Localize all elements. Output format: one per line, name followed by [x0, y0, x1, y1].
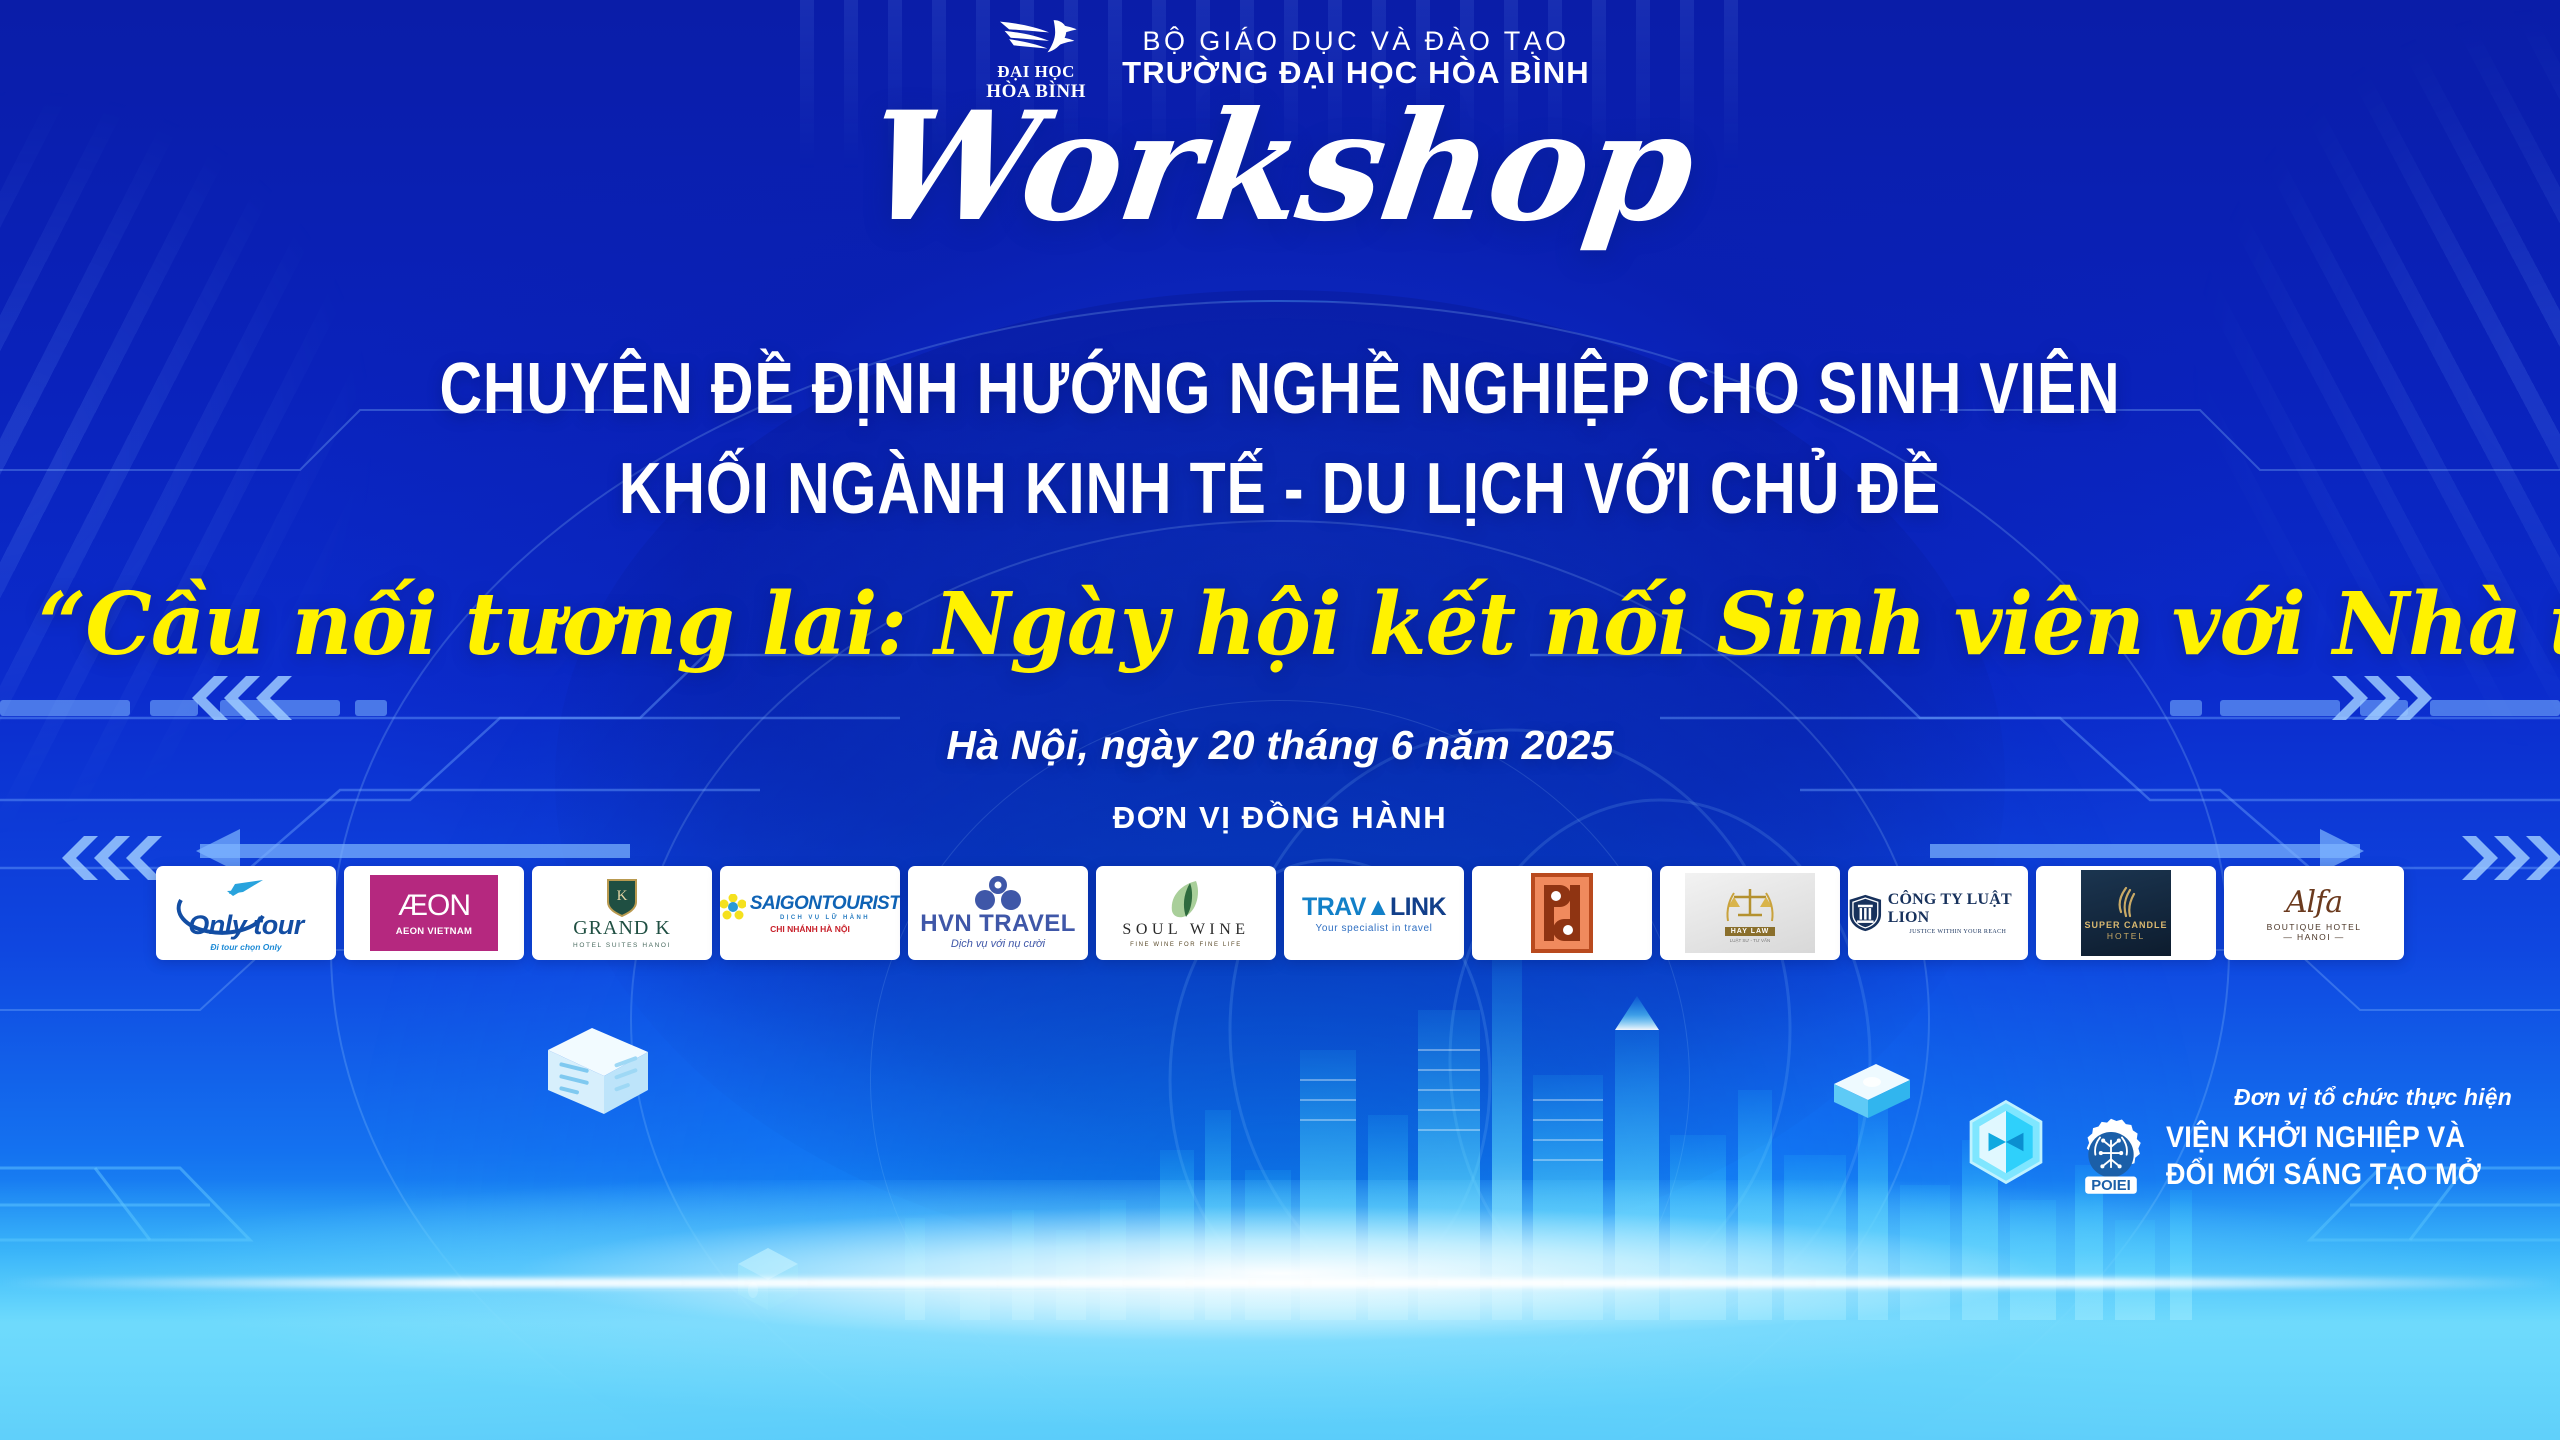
partner-logo-only-tour[interactable]: Only tour Đi tour chọn Only	[156, 866, 336, 960]
partner-tagline-haylaw: LUẬT SƯ - TƯ VẤN	[1730, 938, 1771, 943]
grand-k-shield-icon: K	[605, 877, 639, 917]
svg-text:K: K	[617, 888, 628, 904]
organizer-name-line-2: ĐỔI MỚI SÁNG TẠO MỞ	[2166, 1157, 2481, 1194]
hvn-travel-pin-icon	[975, 876, 1021, 910]
main-title-line-2: KHỐI NGÀNH KINH TẾ - DU LỊCH VỚI CHỦ ĐỀ	[230, 448, 2329, 530]
partner-tagline-super-candle: HOTEL	[2107, 931, 2145, 941]
slab-3d-icon	[1820, 1052, 1920, 1142]
organizer-name-line-1: VIỆN KHỞI NGHIỆP VÀ	[2166, 1120, 2481, 1157]
chevron-right-icon	[2332, 676, 2560, 880]
main-title-line-1: CHUYÊN ĐỀ ĐỊNH HƯỚNG NGHỀ NGHIỆP CHO SIN…	[230, 348, 2329, 430]
partner-tagline-lion-law: JUSTICE WITHIN YOUR REACH	[1909, 929, 2006, 935]
partner-tagline-saigontourist: DỊCH VỤ LỮ HÀNH	[780, 915, 870, 921]
partner-logo-row: Only tour Đi tour chọn Only ÆON AEON VIE…	[0, 866, 2560, 960]
partner-tagline-travalink: Your specialist in travel	[1316, 923, 1433, 934]
partner-name-travalink: TRAV▲LINK	[1302, 893, 1446, 922]
super-candle-flame-icon	[2112, 886, 2140, 920]
university-logo-line1: ĐẠI HỌC	[997, 63, 1075, 80]
document-3d-icon	[530, 1010, 660, 1140]
partners-section-label: ĐƠN VỊ ĐỒNG HÀNH	[0, 800, 2560, 836]
partner-tagline-alfa: BOUTIQUE HOTEL	[2267, 922, 2362, 932]
partner-logo-saigontourist[interactable]: SAIGONTOURIST DỊCH VỤ LỮ HÀNH CHI NHÁNH …	[720, 866, 900, 960]
lion-law-shield-icon	[1848, 889, 1883, 937]
organizer-prefix-label: Đơn vị tổ chức thực hiện	[2234, 1084, 2512, 1111]
poster-canvas: ĐẠI HỌC HÒA BÌNH BỘ GIÁO DỤC VÀ ĐÀO TẠO …	[0, 0, 2560, 1440]
partner-tagline-only-tour: Đi tour chọn Only	[210, 942, 281, 952]
partner-logo-hvn-travel[interactable]: HVN TRAVEL Dịch vụ với nụ cười	[908, 866, 1088, 960]
poiei-logo-text: POIEI	[2091, 1178, 2131, 1194]
partner-logo-haylaw[interactable]: HAY LAW LUẬT SƯ - TƯ VẤN	[1660, 866, 1840, 960]
soul-wine-leaf-icon	[1166, 879, 1206, 921]
university-emblem-icon	[993, 14, 1079, 60]
partner-name-super-candle: SUPER CANDLE	[2084, 920, 2167, 930]
partner-tagline-grand-k: HOTEL SUITES HANOI	[573, 942, 671, 949]
partner-name-haylaw: HAY LAW	[1725, 927, 1776, 936]
partner-logo-aeon[interactable]: ÆON AEON VIETNAM	[344, 866, 524, 960]
pd-monogram-icon	[1538, 881, 1586, 945]
partner-name-grand-k: GRAND K	[573, 917, 671, 940]
partner-tagline2-saigontourist: CHI NHÁNH HÀ NỘI	[770, 924, 850, 934]
partner-tagline-hvn-travel: Dịch vụ với nụ cười	[951, 938, 1045, 950]
stage-sweep	[0, 1290, 2560, 1440]
chevron-left-icon	[62, 676, 292, 880]
event-theme-quote: “Cầu nối tương lai: Ngày hội kết nối Sin…	[38, 580, 2521, 670]
partner-name-soul-wine: SOUL WINE	[1122, 921, 1249, 939]
partner-tagline-soul-wine: FINE WINE FOR FINE LIFE	[1130, 942, 1242, 948]
partner-logo-lion-law[interactable]: CÔNG TY LUẬT LION JUSTICE WITHIN YOUR RE…	[1848, 866, 2028, 960]
partner-tagline-aeon: AEON VIETNAM	[396, 926, 472, 937]
partner-logo-alfa[interactable]: Alfa BOUTIQUE HOTEL — HANOI —	[2224, 866, 2404, 960]
organizer-block: Đơn vị tổ chức thực hiện	[1960, 1084, 2516, 1200]
saigontourist-flower-icon	[720, 894, 746, 920]
stage-highlight-line	[0, 1278, 2560, 1288]
event-date-location: Hà Nội, ngày 20 tháng 6 năm 2025	[0, 722, 2560, 769]
stage-glow	[0, 1180, 2560, 1440]
partner-logo-super-candle[interactable]: SUPER CANDLE HOTEL	[2036, 866, 2216, 960]
partner-name-aeon: ÆON	[398, 889, 470, 923]
poiei-gear-logo-icon: POIEI	[2068, 1114, 2154, 1200]
partner-name-only-tour: Only tour	[188, 910, 304, 941]
ministry-name: BỘ GIÁO DỤC VÀ ĐÀO TẠO	[1143, 26, 1570, 56]
haylaw-scales-icon	[1724, 883, 1776, 927]
workshop-script-title: Workshop	[0, 92, 2560, 242]
partner-logo-grand-k[interactable]: K GRAND K HOTEL SUITES HANOI	[532, 866, 712, 960]
partner-logo-travalink[interactable]: TRAV▲LINK Your specialist in travel	[1284, 866, 1464, 960]
cube-3d-icon-small	[726, 1238, 810, 1322]
partner-name-hvn-travel: HVN TRAVEL	[920, 910, 1076, 938]
organizer-cube-icon	[1960, 1096, 2052, 1188]
dome-shadow	[555, 290, 2005, 1270]
partner-logo-pd[interactable]	[1472, 866, 1652, 960]
partner-name-alfa: Alfa	[2286, 885, 2342, 920]
partner-name-saigontourist: SAIGONTOURIST	[750, 893, 900, 915]
partner-name-lion-law: CÔNG TY LUẬT LION	[1888, 891, 2028, 927]
partner-logo-soul-wine[interactable]: SOUL WINE FINE WINE FOR FINE LIFE	[1096, 866, 1276, 960]
partner-tagline2-alfa: — HANOI —	[2283, 932, 2344, 942]
